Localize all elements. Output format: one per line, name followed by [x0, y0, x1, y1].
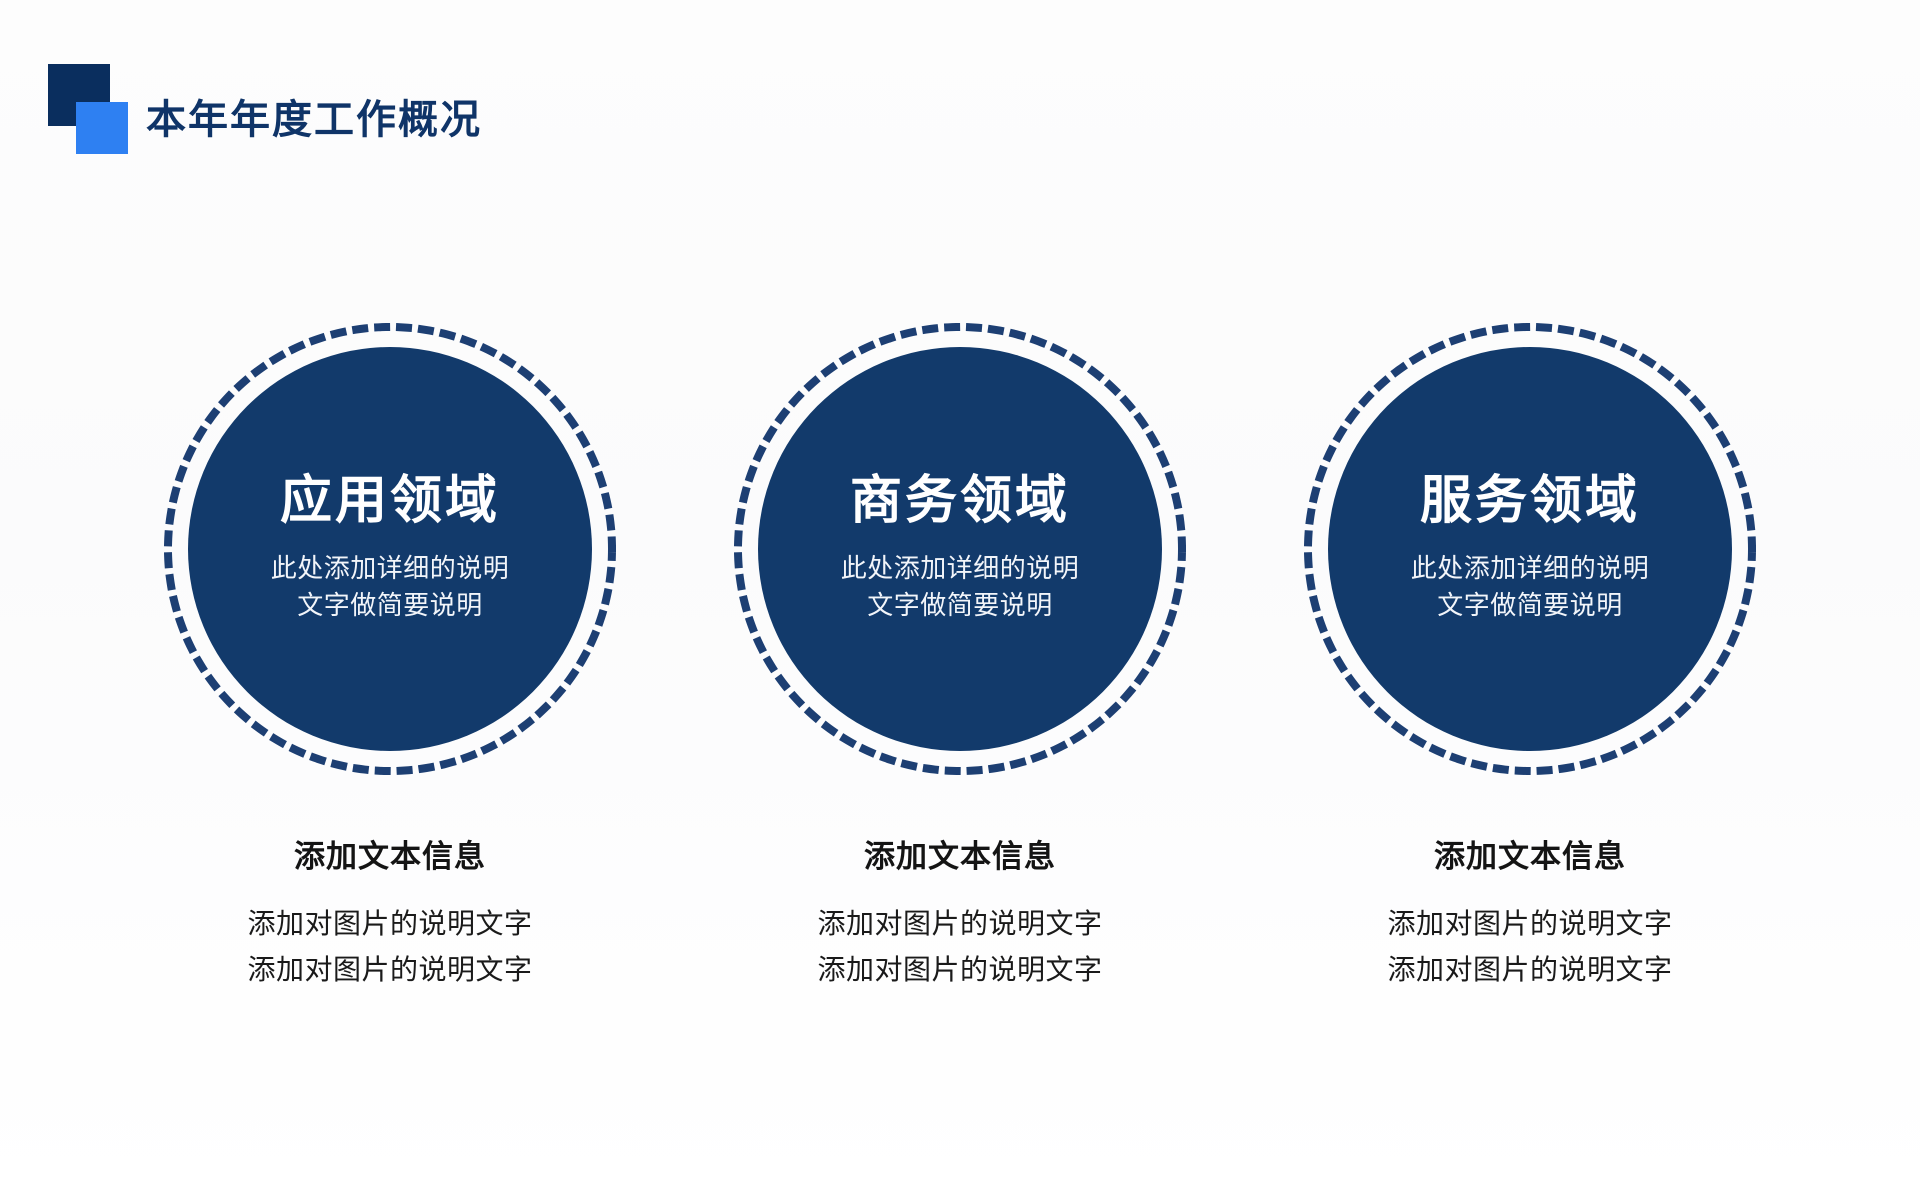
- column-application: 应用领域 此处添加详细的说明 文字做简要说明 添加文本信息 添加对图片的说明文字…: [155, 318, 625, 992]
- caption-block-application: 添加文本信息 添加对图片的说明文字 添加对图片的说明文字: [155, 838, 625, 992]
- circle-title-service: 服务领域: [1420, 474, 1640, 529]
- circle-unit-business[interactable]: 商务领域 此处添加详细的说明 文字做简要说明: [729, 318, 1191, 780]
- circle-core-business: 商务领域 此处添加详细的说明 文字做简要说明: [758, 347, 1162, 751]
- circle-desc-line-2: 文字做简要说明: [841, 587, 1080, 624]
- circle-desc-line-2: 文字做简要说明: [271, 587, 510, 624]
- circle-desc-line-1: 此处添加详细的说明: [841, 550, 1080, 587]
- circle-title-business: 商务领域: [850, 474, 1070, 529]
- column-business: 商务领域 此处添加详细的说明 文字做简要说明 添加文本信息 添加对图片的说明文字…: [725, 318, 1195, 992]
- page-title: 本年年度工作概况: [146, 100, 482, 160]
- caption-block-business: 添加文本信息 添加对图片的说明文字 添加对图片的说明文字: [725, 838, 1195, 992]
- header-decoration-squares: [48, 64, 134, 160]
- header-square-light: [76, 102, 128, 154]
- circle-desc-line-1: 此处添加详细的说明: [1411, 550, 1650, 587]
- circle-desc-application: 此处添加详细的说明 文字做简要说明: [271, 550, 510, 624]
- caption-title: 添加文本信息: [1295, 838, 1765, 875]
- caption-line-2: 添加对图片的说明文字: [1295, 947, 1765, 992]
- caption-line-1: 添加对图片的说明文字: [725, 901, 1195, 946]
- circle-unit-application[interactable]: 应用领域 此处添加详细的说明 文字做简要说明: [159, 318, 621, 780]
- circle-desc-business: 此处添加详细的说明 文字做简要说明: [841, 550, 1080, 624]
- circle-desc-line-1: 此处添加详细的说明: [271, 550, 510, 587]
- circle-desc-service: 此处添加详细的说明 文字做简要说明: [1411, 550, 1650, 624]
- caption-line-1: 添加对图片的说明文字: [1295, 901, 1765, 946]
- caption-line-1: 添加对图片的说明文字: [155, 901, 625, 946]
- caption-title: 添加文本信息: [155, 838, 625, 875]
- circle-unit-service[interactable]: 服务领域 此处添加详细的说明 文字做简要说明: [1299, 318, 1761, 780]
- column-service: 服务领域 此处添加详细的说明 文字做简要说明 添加文本信息 添加对图片的说明文字…: [1295, 318, 1765, 992]
- caption-line-2: 添加对图片的说明文字: [725, 947, 1195, 992]
- caption-line-2: 添加对图片的说明文字: [155, 947, 625, 992]
- circle-desc-line-2: 文字做简要说明: [1411, 587, 1650, 624]
- caption-title: 添加文本信息: [725, 838, 1195, 875]
- slide-header: 本年年度工作概况: [48, 60, 482, 160]
- caption-block-service: 添加文本信息 添加对图片的说明文字 添加对图片的说明文字: [1295, 838, 1765, 992]
- content-columns: 应用领域 此处添加详细的说明 文字做简要说明 添加文本信息 添加对图片的说明文字…: [0, 318, 1920, 992]
- circle-title-application: 应用领域: [280, 474, 500, 529]
- circle-core-service: 服务领域 此处添加详细的说明 文字做简要说明: [1328, 347, 1732, 751]
- circle-core-application: 应用领域 此处添加详细的说明 文字做简要说明: [188, 347, 592, 751]
